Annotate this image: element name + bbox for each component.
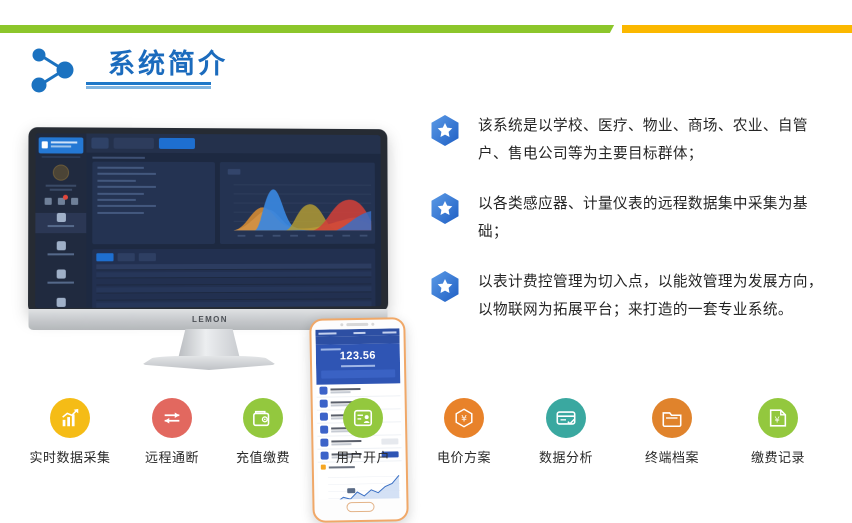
sidebar-logo — [39, 137, 84, 153]
monitor-brand: LEMON — [192, 315, 228, 324]
feature-label: 终端档案 — [617, 447, 727, 466]
hexagon-star-icon — [430, 270, 460, 303]
device-mockup: LEMON 123.56 — [18, 120, 418, 385]
wallet-icon — [243, 398, 283, 438]
table-row[interactable] — [96, 301, 371, 308]
monitor-stand-base — [142, 356, 276, 370]
avatar — [53, 165, 69, 181]
account-icon — [319, 387, 327, 395]
feature-label: 数据分析 — [511, 447, 621, 466]
bar-chart-trend-icon — [50, 398, 90, 438]
dashboard-screen — [35, 133, 381, 308]
table-row[interactable] — [96, 286, 371, 293]
phone-home-button[interactable] — [346, 502, 374, 512]
feature-item-open-account[interactable]: 用户开户 — [308, 398, 418, 466]
balance-amount: 123.56 — [321, 349, 395, 363]
exchange-arrows-icon — [152, 398, 192, 438]
list-item: 该系统是以学校、医疗、物业、商场、农业、自管户、售电公司等为主要目标群体； — [430, 112, 830, 168]
sidebar-username — [46, 185, 76, 187]
feature-label: 实时数据采集 — [15, 447, 125, 466]
tab-secondary[interactable] — [114, 138, 154, 149]
table-row[interactable] — [96, 278, 371, 285]
list-item-text: 以各类感应器、计量仪表的远程数据集中采集为基础； — [478, 190, 830, 246]
table-filter-button[interactable] — [96, 253, 113, 261]
feature-item-analysis[interactable]: 数据分析 — [511, 398, 621, 466]
status-badge — [62, 195, 67, 200]
intro-bullet-list: 该系统是以学校、医疗、物业、商场、农业、自管户、售电公司等为主要目标群体； 以各… — [430, 112, 830, 346]
page-title: 系统简介 — [108, 42, 228, 81]
sidebar-divider — [42, 156, 81, 157]
yuan-receipt-icon: ¥ — [758, 398, 798, 438]
feature-item-terminal-archive[interactable]: 终端档案 — [617, 398, 727, 466]
notice-bar[interactable] — [321, 369, 395, 378]
dashboard-tabbar[interactable] — [86, 134, 380, 154]
feature-item-payment-record[interactable]: ¥ 缴费记录 — [723, 398, 833, 466]
feature-icon-row: 实时数据采集 远程通断 充值 — [0, 398, 852, 478]
breadcrumb — [92, 157, 144, 159]
dashboard-top-row — [86, 162, 381, 245]
feature-item-realtime[interactable]: 实时数据采集 — [15, 398, 125, 466]
title-underline-secondary — [86, 86, 211, 89]
table-export-button[interactable] — [118, 253, 135, 261]
sidebar-item-4[interactable] — [35, 298, 86, 308]
feature-item-recharge[interactable]: 充值缴费 — [208, 398, 318, 466]
gear-icon[interactable] — [71, 198, 78, 205]
desktop-monitor — [28, 127, 388, 314]
share-icon — [56, 213, 65, 222]
sidebar-quick-actions[interactable] — [35, 198, 86, 205]
list-item-text: 该系统是以学校、医疗、物业、商场、农业、自管户、售电公司等为主要目标群体； — [478, 112, 830, 168]
section-heading: 系统简介 — [26, 44, 356, 96]
info-card — [92, 162, 215, 245]
title-underline-primary — [86, 82, 211, 85]
table-row[interactable] — [96, 271, 371, 278]
sidebar-userrole — [50, 189, 72, 191]
search-icon — [56, 298, 65, 307]
list-item: 以各类感应器、计量仪表的远程数据集中采集为基础； — [430, 190, 830, 246]
dashboard-sidebar — [35, 133, 86, 308]
data-table — [92, 249, 375, 308]
table-print-button[interactable] — [139, 253, 156, 261]
table-row[interactable] — [96, 293, 371, 300]
hexagon-star-icon — [430, 192, 460, 225]
feature-label: 电价方案 — [409, 447, 519, 466]
card-check-icon — [546, 398, 586, 438]
sidebar-item-3[interactable] — [35, 269, 86, 289]
coin-icon — [56, 241, 65, 250]
svg-text:¥: ¥ — [774, 415, 779, 425]
sidebar-item-1[interactable] — [35, 213, 86, 233]
table-header-row — [96, 264, 371, 271]
dashboard-main — [86, 134, 381, 308]
feature-label: 缴费记录 — [723, 447, 833, 466]
book-icon — [56, 269, 65, 278]
feature-label: 用户开户 — [308, 447, 418, 466]
upload-icon[interactable] — [44, 198, 51, 205]
table-toolbar[interactable] — [96, 253, 371, 262]
feature-item-price-plan[interactable]: ¥ 电价方案 — [409, 398, 519, 466]
folder-icon — [652, 398, 692, 438]
tab-active[interactable] — [159, 138, 195, 149]
slide-canvas: 系统简介 该系统是以学校、医疗、物业、商场、农业、自管户、售电公司等为主要目标群… — [0, 0, 852, 480]
monitor-stand-neck — [178, 329, 240, 359]
message-icon[interactable] — [57, 198, 64, 205]
area-chart-card — [220, 162, 375, 244]
list-item: 以表计费控管理为切入点，以能效管理为发展方向，以物联网为拓展平台；来打造的一套专… — [430, 268, 830, 324]
network-node-icon — [26, 46, 82, 94]
balance-sublabel — [341, 365, 375, 368]
balance-hero: 123.56 — [316, 343, 401, 384]
rule-green-segment — [0, 25, 618, 33]
sidebar-item-2[interactable] — [35, 241, 86, 261]
svg-text:¥: ¥ — [461, 414, 467, 425]
user-document-icon — [343, 398, 383, 438]
rule-orange-segment — [622, 25, 852, 33]
yuan-hexagon-icon: ¥ — [444, 398, 484, 438]
top-rule — [0, 25, 852, 33]
tab-home[interactable] — [91, 138, 108, 149]
list-item-text: 以表计费控管理为切入点，以能效管理为发展方向，以物联网为拓展平台；来打造的一套专… — [478, 268, 830, 324]
feature-label: 充值缴费 — [208, 447, 318, 466]
hexagon-star-icon — [430, 114, 460, 147]
area-chart — [220, 162, 375, 244]
